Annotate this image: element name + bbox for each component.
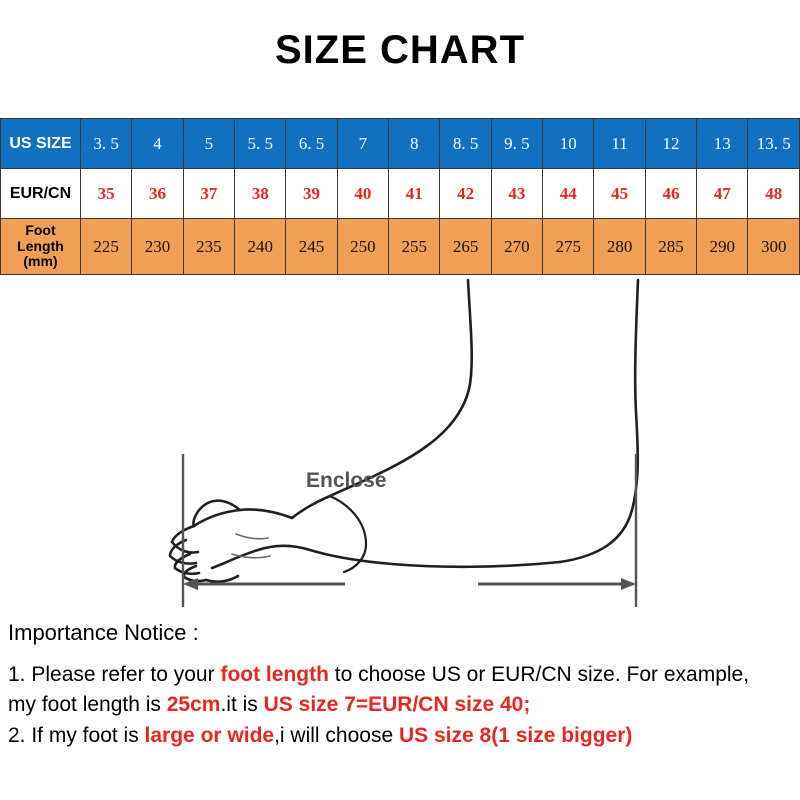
table-row-us-size: US SIZE 3. 5 4 5 5. 5 6. 5 7 8 8. 5 9. 5… xyxy=(1,119,800,169)
cell-foot-length: 270 xyxy=(491,219,542,275)
enclose-label: Enclose xyxy=(306,469,387,492)
arrow-head-right xyxy=(621,578,636,590)
cell-eur-size: 48 xyxy=(748,169,800,219)
foot-outline-icon xyxy=(170,280,638,582)
notice-line1-part-b: to choose US or EUR/CN size. For example… xyxy=(329,663,749,686)
cell-us-size: 12 xyxy=(645,119,696,169)
cell-eur-size: 39 xyxy=(286,169,337,219)
cell-us-size: 13. 5 xyxy=(748,119,800,169)
cell-eur-size: 41 xyxy=(389,169,440,219)
notice-line-2: my foot length is 25cm.it is US size 7=E… xyxy=(8,690,798,720)
foot-length-label-unit: (mm) xyxy=(1,254,80,270)
notice-line3-part-a: 2. If my foot is xyxy=(8,724,145,747)
cell-foot-length: 230 xyxy=(132,219,183,275)
cell-foot-length: 290 xyxy=(697,219,748,275)
cell-foot-length: 265 xyxy=(440,219,491,275)
notice-line2-part-a: my foot length is xyxy=(8,693,167,716)
cell-eur-size: 43 xyxy=(491,169,542,219)
cell-us-size: 11 xyxy=(594,119,645,169)
cell-foot-length: 225 xyxy=(81,219,132,275)
size-chart-table: US SIZE 3. 5 4 5 5. 5 6. 5 7 8 8. 5 9. 5… xyxy=(0,118,800,275)
cell-us-size: 5 xyxy=(183,119,234,169)
cell-eur-size: 45 xyxy=(594,169,645,219)
foot-length-label-main: Foot Length xyxy=(17,222,64,254)
notice-line3-highlight-width: large or wide xyxy=(145,724,275,747)
importance-notice: Importance Notice : 1. Please refer to y… xyxy=(8,620,798,751)
notice-line-1: 1. Please refer to your foot length to c… xyxy=(8,660,798,690)
cell-us-size: 10 xyxy=(543,119,594,169)
table-row-foot-length: Foot Length (mm) 225 230 235 240 245 250… xyxy=(1,219,800,275)
notice-line1-part-a: 1. Please refer to your xyxy=(8,663,220,686)
cell-foot-length: 275 xyxy=(543,219,594,275)
page-title: SIZE CHART xyxy=(0,28,800,73)
cell-eur-size: 47 xyxy=(697,169,748,219)
cell-foot-length: 245 xyxy=(286,219,337,275)
cell-eur-size: 37 xyxy=(183,169,234,219)
cell-us-size: 9. 5 xyxy=(491,119,542,169)
cell-us-size: 3. 5 xyxy=(81,119,132,169)
cell-foot-length: 280 xyxy=(594,219,645,275)
cell-us-size: 8 xyxy=(389,119,440,169)
cell-eur-size: 35 xyxy=(81,169,132,219)
cell-us-size: 5. 5 xyxy=(235,119,286,169)
cell-eur-size: 36 xyxy=(132,169,183,219)
notice-line2-highlight-size: US size 7=EUR/CN size 40; xyxy=(264,693,531,716)
notice-line-3: 2. If my foot is large or wide,i will ch… xyxy=(8,721,798,751)
cell-us-size: 13 xyxy=(697,119,748,169)
cell-eur-size: 44 xyxy=(543,169,594,219)
cell-eur-size: 40 xyxy=(337,169,388,219)
size-chart-page: SIZE CHART US SIZE 3. 5 4 5 5. 5 6. 5 7 … xyxy=(0,0,800,800)
foot-diagram: Enclose Foot Length xyxy=(0,272,800,617)
table-row-eur-cn: EUR/CN 35 36 37 38 39 40 41 42 43 44 45 … xyxy=(1,169,800,219)
notice-line3-highlight-size: US size 8(1 size bigger) xyxy=(399,724,632,747)
notice-line2-part-b: .it is xyxy=(220,693,263,716)
cell-us-size: 8. 5 xyxy=(440,119,491,169)
notice-line1-highlight: foot length xyxy=(220,663,328,686)
cell-eur-size: 42 xyxy=(440,169,491,219)
cell-us-size: 7 xyxy=(337,119,388,169)
cell-us-size: 6. 5 xyxy=(286,119,337,169)
row-label-foot-length: Foot Length (mm) xyxy=(1,219,81,275)
row-label-us-size: US SIZE xyxy=(1,119,81,169)
cell-eur-size: 46 xyxy=(645,169,696,219)
notice-heading: Importance Notice : xyxy=(8,620,798,646)
row-label-eur-cn: EUR/CN xyxy=(1,169,81,219)
cell-foot-length: 300 xyxy=(748,219,800,275)
cell-eur-size: 38 xyxy=(235,169,286,219)
cell-foot-length: 235 xyxy=(183,219,234,275)
cell-foot-length: 285 xyxy=(645,219,696,275)
notice-line3-part-b: ,i will choose xyxy=(274,724,399,747)
notice-line2-highlight-length: 25cm xyxy=(167,693,221,716)
cell-foot-length: 255 xyxy=(389,219,440,275)
cell-us-size: 4 xyxy=(132,119,183,169)
cell-foot-length: 240 xyxy=(235,219,286,275)
cell-foot-length: 250 xyxy=(337,219,388,275)
